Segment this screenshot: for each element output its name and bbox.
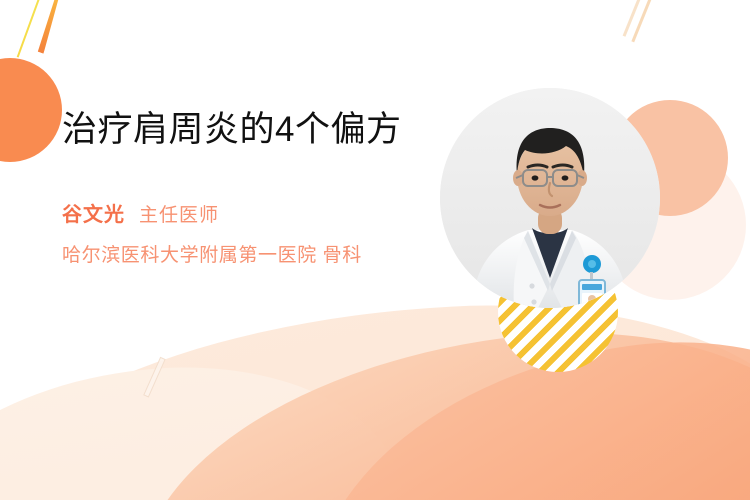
byline: 谷文光主任医师 (62, 198, 432, 227)
bottom-wave-front (282, 308, 750, 500)
doctor-portrait-illustration (440, 88, 660, 308)
orange-diagonal-blade-icon (28, 0, 71, 54)
top-right-stripe-icon-b (631, 0, 656, 42)
page-title: 治疗肩周炎的4个偏方 (62, 108, 432, 151)
doctor-job-title: 主任医师 (139, 205, 219, 226)
yellow-hairline-stripe-icon (17, 0, 46, 58)
doctor-name: 谷文光 (62, 204, 125, 226)
doctor-portrait (440, 88, 660, 308)
bottom-wave-back (0, 288, 750, 500)
bottom-wave-mid (117, 303, 750, 500)
article-cover-card: 治疗肩周炎的4个偏方 谷文光主任医师 哈尔滨医科大学附属第一医院 骨科 (0, 0, 750, 500)
doctor-affiliation: 哈尔滨医科大学附属第一医院 骨科 (62, 240, 432, 267)
text-block: 治疗肩周炎的4个偏方 谷文光主任医师 哈尔滨医科大学附属第一医院 骨科 (62, 108, 432, 267)
bottom-wave-left-pale (0, 352, 407, 500)
bottom-hairline-stripe-icon (143, 357, 166, 398)
top-right-stripe-icon-a (623, 0, 645, 37)
orange-circle-decoration (0, 58, 62, 162)
